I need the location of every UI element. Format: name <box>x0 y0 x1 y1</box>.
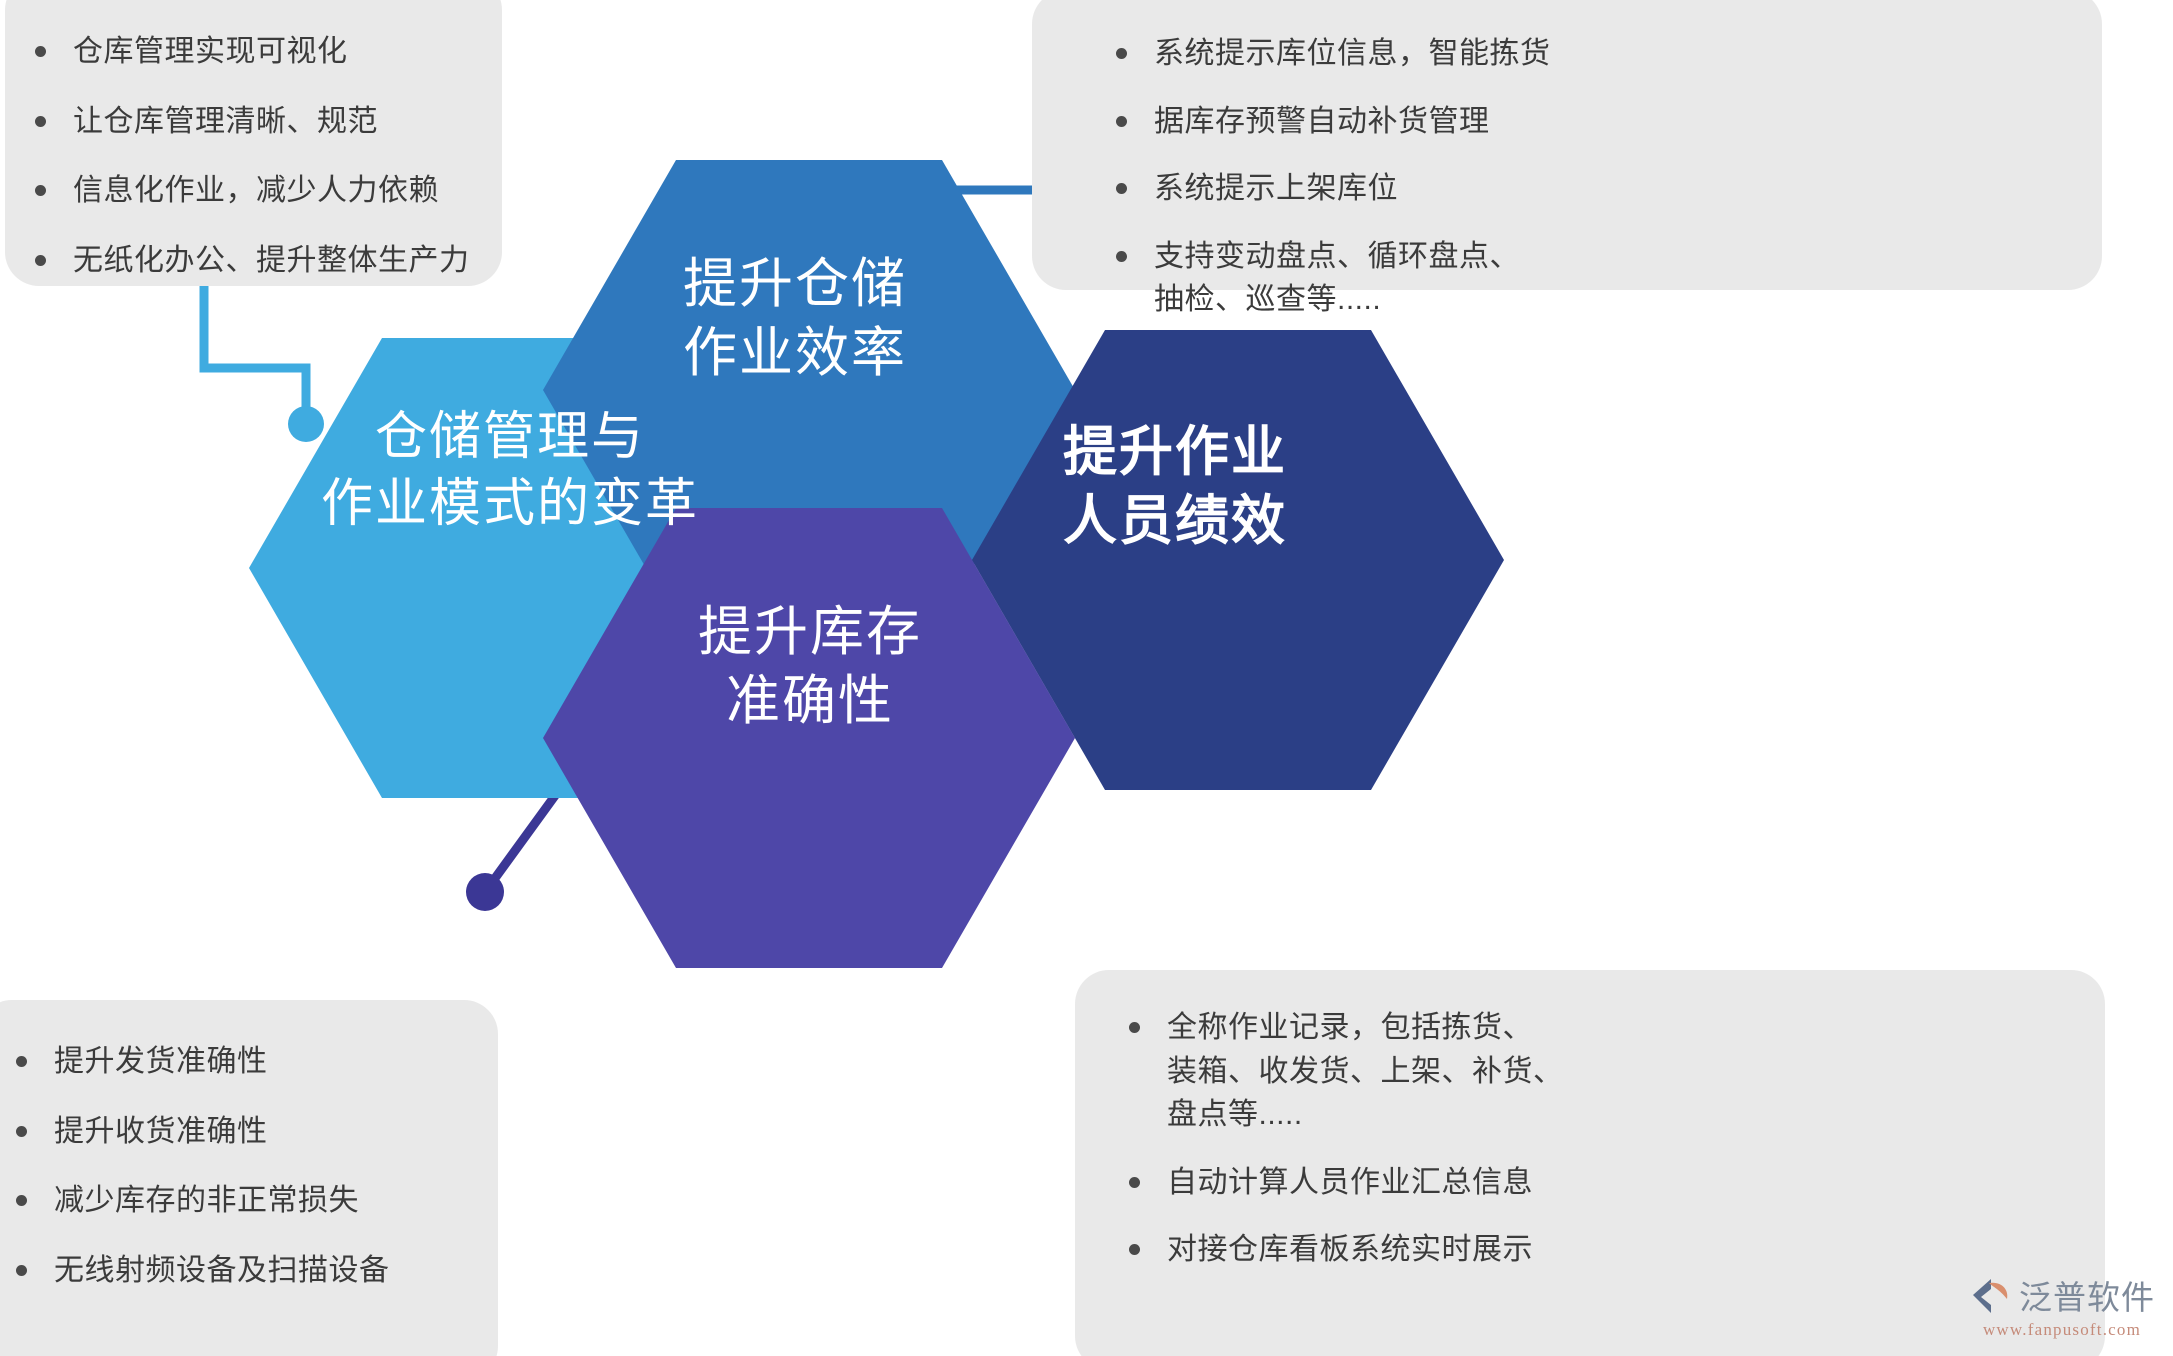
list-item: 支持变动盘点、循环盘点、 抽检、巡查等..... <box>1108 235 2062 322</box>
list-item: 无线射频设备及扫描设备 <box>8 1249 470 1293</box>
callout-bottom-left-list: 提升发货准确性 提升收货准确性 减少库存的非正常损失 无线射频设备及扫描设备 <box>8 1040 470 1292</box>
list-item: 提升收货准确性 <box>8 1110 470 1154</box>
connector-bottom-left-node-end <box>466 873 504 911</box>
list-item: 提升发货准确性 <box>8 1040 470 1084</box>
callout-top-right: 系统提示库位信息，智能拣货 据库存预警自动补货管理 系统提示上架库位 支持变动盘… <box>1032 0 2102 290</box>
callout-bottom-left: 提升发货准确性 提升收货准确性 减少库存的非正常损失 无线射频设备及扫描设备 <box>0 1000 498 1356</box>
list-item: 系统提示上架库位 <box>1108 167 2062 211</box>
list-item: 减少库存的非正常损失 <box>8 1179 470 1223</box>
list-item: 无纸化办公、提升整体生产力 <box>27 239 474 283</box>
callout-top-left: 仓库管理实现可视化 让仓库管理清晰、规范 信息化作业，减少人力依赖 无纸化办公、… <box>5 0 502 286</box>
list-item: 仓库管理实现可视化 <box>27 30 474 74</box>
list-item: 系统提示库位信息，智能拣货 <box>1108 32 2062 76</box>
callout-top-right-list: 系统提示库位信息，智能拣货 据库存预警自动补货管理 系统提示上架库位 支持变动盘… <box>1108 32 2062 322</box>
connector-top-left-node-end <box>288 406 324 442</box>
callout-bottom-right: 全称作业记录，包括拣货、 装箱、收发货、上架、补货、 盘点等..... 自动计算… <box>1075 970 2105 1356</box>
callout-bottom-right-list: 全称作业记录，包括拣货、 装箱、收发货、上架、补货、 盘点等..... 自动计算… <box>1121 1006 2065 1272</box>
connector-top-left-line <box>204 266 306 424</box>
diagram-canvas: 提升仓储 作业效率 仓储管理与 作业模式的变革 提升作业 人员绩效 提升库存 准… <box>0 0 2173 1356</box>
callout-top-left-list: 仓库管理实现可视化 让仓库管理清晰、规范 信息化作业，减少人力依赖 无纸化办公、… <box>27 30 474 282</box>
list-item: 据库存预警自动补货管理 <box>1108 100 2062 144</box>
list-item: 对接仓库看板系统实时展示 <box>1121 1228 2065 1272</box>
list-item: 全称作业记录，包括拣货、 装箱、收发货、上架、补货、 盘点等..... <box>1121 1006 2065 1137</box>
list-item: 让仓库管理清晰、规范 <box>27 100 474 144</box>
list-item: 自动计算人员作业汇总信息 <box>1121 1161 2065 1205</box>
list-item: 信息化作业，减少人力依赖 <box>27 169 474 213</box>
